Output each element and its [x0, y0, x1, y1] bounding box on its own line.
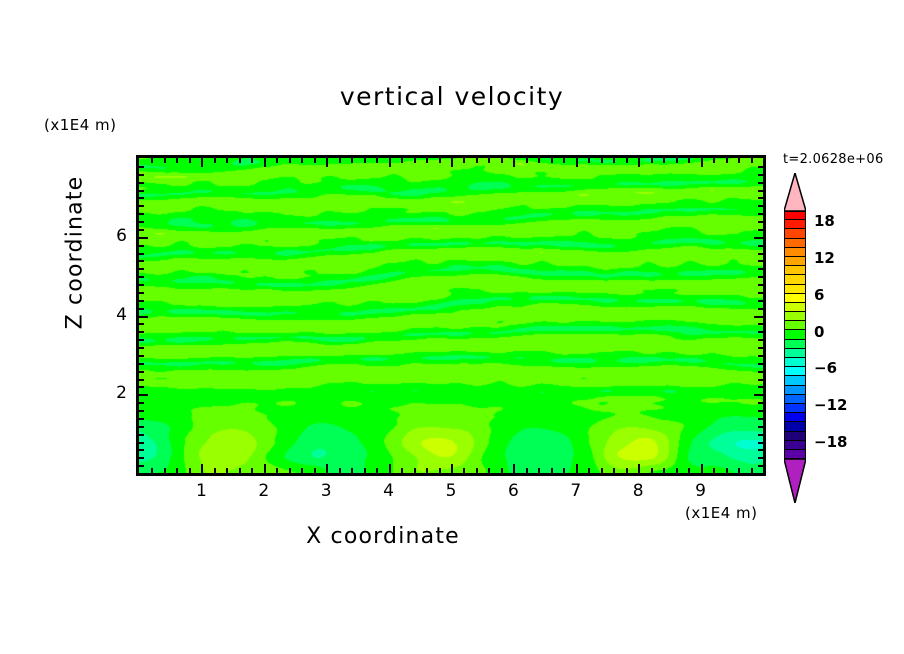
tick-mark	[151, 468, 153, 473]
tick-mark	[164, 468, 166, 473]
tick-mark	[758, 418, 763, 420]
tick-mark	[314, 158, 316, 163]
tick-mark	[401, 158, 403, 163]
tick-mark	[563, 468, 565, 473]
tick-mark	[713, 158, 715, 163]
tick-mark	[139, 323, 144, 325]
y-axis-title: Z coordinate	[63, 153, 88, 353]
colorbar-band[interactable]	[784, 321, 806, 330]
tick-mark	[139, 386, 144, 388]
tick-mark	[339, 468, 341, 473]
tick-mark	[758, 331, 763, 333]
tick-mark	[758, 442, 763, 444]
tick-mark	[758, 379, 763, 381]
tick-mark	[613, 468, 615, 473]
tick-mark	[626, 158, 628, 163]
tick-mark	[414, 468, 416, 473]
tick-mark	[139, 213, 144, 215]
colorbar-band[interactable]	[784, 340, 806, 349]
tick-mark	[758, 449, 763, 451]
tick-mark	[638, 464, 640, 473]
tick-mark	[538, 468, 540, 473]
colorbar-tick-label: −18	[814, 433, 847, 451]
tick-mark	[139, 402, 144, 404]
tick-mark	[758, 434, 763, 436]
colorbar-tick-label: 18	[814, 212, 835, 230]
tick-mark	[139, 253, 144, 255]
tick-mark	[351, 158, 353, 163]
colorbar-band[interactable]	[784, 211, 806, 220]
tick-mark	[139, 182, 144, 184]
tick-mark	[339, 158, 341, 163]
colorbar-tick-label: 12	[814, 249, 835, 267]
tick-mark	[139, 434, 144, 436]
tick-mark	[758, 386, 763, 388]
tick-mark	[239, 158, 241, 163]
tick-mark	[701, 464, 703, 473]
colorbar-band[interactable]	[784, 275, 806, 284]
y-tick-label: 6	[87, 226, 127, 246]
tick-mark	[758, 339, 763, 341]
tick-mark	[688, 468, 690, 473]
tick-mark	[758, 205, 763, 207]
tick-mark	[513, 464, 515, 473]
tick-mark	[389, 158, 391, 167]
tick-mark	[663, 468, 665, 473]
tick-mark	[326, 464, 328, 473]
tick-mark	[758, 300, 763, 302]
tick-mark	[214, 468, 216, 473]
tick-mark	[758, 355, 763, 357]
colorbar-band[interactable]	[784, 450, 806, 459]
tick-mark	[439, 468, 441, 473]
tick-mark	[139, 371, 144, 373]
tick-mark	[688, 158, 690, 163]
tick-mark	[613, 158, 615, 163]
tick-mark	[139, 449, 144, 451]
tick-mark	[139, 308, 144, 310]
colorbar-band[interactable]	[784, 395, 806, 404]
colorbar-band[interactable]	[784, 229, 806, 238]
x-tick-label: 3	[306, 481, 346, 501]
tick-mark	[139, 300, 144, 302]
y-tick-label: 2	[87, 383, 127, 403]
tick-mark	[251, 468, 253, 473]
colorbar-band[interactable]	[784, 367, 806, 376]
tick-mark	[754, 394, 763, 396]
tick-mark	[758, 229, 763, 231]
tick-mark	[526, 468, 528, 473]
tick-mark	[364, 468, 366, 473]
x-tick-label: 5	[431, 481, 471, 501]
colorbar-band[interactable]	[784, 266, 806, 275]
tick-mark	[758, 221, 763, 223]
tick-mark	[526, 158, 528, 163]
tick-mark	[588, 158, 590, 163]
tick-mark	[189, 468, 191, 473]
tick-mark	[364, 158, 366, 163]
colorbar-band[interactable]	[784, 358, 806, 367]
tick-mark	[758, 323, 763, 325]
tick-mark	[758, 426, 763, 428]
tick-mark	[301, 158, 303, 163]
colorbar-band[interactable]	[784, 413, 806, 422]
tick-mark	[289, 158, 291, 163]
colorbar-tick-label: −12	[814, 396, 847, 414]
tick-mark	[139, 394, 148, 396]
tick-mark	[376, 468, 378, 473]
colorbar-bottom-cap	[784, 459, 806, 503]
tick-mark	[488, 468, 490, 473]
tick-mark	[758, 253, 763, 255]
tick-mark	[713, 468, 715, 473]
tick-mark	[758, 260, 763, 262]
tick-mark	[758, 182, 763, 184]
tick-mark	[758, 363, 763, 365]
tick-mark	[501, 158, 503, 163]
tick-mark	[139, 205, 144, 207]
tick-mark	[214, 158, 216, 163]
tick-mark	[738, 158, 740, 163]
tick-mark	[139, 410, 144, 412]
tick-mark	[758, 245, 763, 247]
colorbar-tick-label: 0	[814, 323, 824, 341]
tick-mark	[726, 468, 728, 473]
x-tick-label: 7	[556, 481, 596, 501]
tick-mark	[189, 158, 191, 163]
tick-mark	[476, 468, 478, 473]
tick-mark	[139, 418, 144, 420]
tick-mark	[139, 245, 144, 247]
page-title: vertical velocity	[0, 82, 904, 111]
x-tick-label: 2	[244, 481, 284, 501]
y-axis-unit-label: (x1E4 m)	[44, 116, 117, 134]
tick-mark	[663, 158, 665, 163]
colorbar-band[interactable]	[784, 432, 806, 441]
tick-mark	[376, 158, 378, 163]
tick-mark	[139, 276, 144, 278]
tick-mark	[201, 464, 203, 473]
tick-mark	[414, 158, 416, 163]
x-tick-label: 9	[681, 481, 721, 501]
tick-mark	[139, 339, 144, 341]
colorbar-top-cap	[784, 173, 806, 211]
tick-mark	[139, 237, 148, 239]
tick-mark	[139, 166, 144, 168]
tick-mark	[758, 465, 763, 467]
tick-mark	[226, 158, 228, 163]
tick-mark	[139, 229, 144, 231]
velocity-field-canvas	[139, 158, 763, 473]
tick-mark	[676, 158, 678, 163]
tick-mark	[651, 158, 653, 163]
tick-mark	[139, 347, 144, 349]
tick-mark	[701, 158, 703, 167]
tick-mark	[588, 468, 590, 473]
tick-mark	[351, 468, 353, 473]
colorbar-band[interactable]	[784, 349, 806, 358]
tick-mark	[651, 468, 653, 473]
tick-mark	[551, 468, 553, 473]
tick-mark	[601, 468, 603, 473]
tick-mark	[758, 197, 763, 199]
colorbar-band[interactable]	[784, 257, 806, 266]
tick-mark	[451, 464, 453, 473]
colorbar-band[interactable]	[784, 330, 806, 339]
tick-mark	[139, 221, 144, 223]
tick-mark	[239, 468, 241, 473]
tick-mark	[264, 464, 266, 473]
tick-mark	[476, 158, 478, 163]
tick-mark	[758, 371, 763, 373]
tick-mark	[276, 158, 278, 163]
tick-mark	[758, 457, 763, 459]
figure-canvas: vertical velocity (x1E4 m) (x1E4 m) t=2.…	[0, 0, 904, 654]
colorbar-band[interactable]	[784, 294, 806, 303]
tick-mark	[139, 284, 144, 286]
tick-mark	[176, 468, 178, 473]
tick-mark	[326, 158, 328, 167]
tick-mark	[488, 158, 490, 163]
tick-mark	[139, 355, 144, 357]
tick-mark	[626, 468, 628, 473]
tick-mark	[139, 426, 144, 428]
tick-mark	[758, 166, 763, 168]
tick-mark	[226, 468, 228, 473]
tick-mark	[676, 468, 678, 473]
colorbar-tick-label: 6	[814, 286, 824, 304]
colorbar-band[interactable]	[784, 239, 806, 248]
tick-mark	[758, 308, 763, 310]
x-tick-label: 4	[369, 481, 409, 501]
tick-mark	[751, 158, 753, 163]
tick-mark	[751, 468, 753, 473]
tick-mark	[758, 268, 763, 270]
tick-mark	[139, 363, 144, 365]
tick-mark	[139, 292, 144, 294]
tick-mark	[758, 213, 763, 215]
tick-mark	[251, 158, 253, 163]
tick-mark	[551, 158, 553, 163]
tick-mark	[139, 260, 144, 262]
tick-mark	[314, 468, 316, 473]
colorbar-band[interactable]	[784, 386, 806, 395]
tick-mark	[139, 457, 144, 459]
tick-mark	[151, 158, 153, 163]
colorbar-band[interactable]	[784, 376, 806, 385]
tick-mark	[758, 174, 763, 176]
tick-mark	[758, 276, 763, 278]
tick-mark	[758, 402, 763, 404]
colorbar-band[interactable]	[784, 312, 806, 321]
tick-mark	[139, 442, 144, 444]
timestamp-annotation: t=2.0628e+06	[783, 152, 884, 167]
x-axis-title: X coordinate	[0, 524, 766, 549]
colorbar-band[interactable]	[784, 404, 806, 413]
x-tick-label: 6	[493, 481, 533, 501]
x-tick-label: 8	[618, 481, 658, 501]
tick-mark	[754, 316, 763, 318]
tick-mark	[389, 464, 391, 473]
tick-mark	[139, 316, 148, 318]
tick-mark	[264, 158, 266, 167]
tick-mark	[576, 158, 578, 167]
tick-mark	[463, 468, 465, 473]
tick-mark	[738, 468, 740, 473]
tick-mark	[139, 174, 144, 176]
tick-mark	[513, 158, 515, 167]
colorbar-band[interactable]	[784, 303, 806, 312]
tick-mark	[758, 410, 763, 412]
tick-mark	[439, 158, 441, 163]
colorbar-band[interactable]	[784, 441, 806, 450]
tick-mark	[289, 468, 291, 473]
tick-mark	[754, 237, 763, 239]
tick-mark	[139, 197, 144, 199]
tick-mark	[201, 158, 203, 167]
colorbar-band[interactable]	[784, 248, 806, 257]
tick-mark	[139, 465, 144, 467]
colorbar[interactable]	[784, 211, 806, 459]
tick-mark	[638, 158, 640, 167]
tick-mark	[139, 331, 144, 333]
x-axis-unit-label: (x1E4 m)	[685, 504, 758, 522]
tick-mark	[139, 268, 144, 270]
tick-mark	[538, 158, 540, 163]
tick-mark	[576, 464, 578, 473]
colorbar-tick-label: −6	[814, 359, 837, 377]
tick-mark	[758, 347, 763, 349]
tick-mark	[758, 190, 763, 192]
tick-mark	[463, 158, 465, 163]
colorbar-band[interactable]	[784, 422, 806, 431]
tick-mark	[758, 284, 763, 286]
tick-mark	[501, 468, 503, 473]
tick-mark	[563, 158, 565, 163]
tick-mark	[451, 158, 453, 167]
colorbar-band[interactable]	[784, 285, 806, 294]
x-tick-label: 1	[181, 481, 221, 501]
tick-mark	[426, 468, 428, 473]
contour-plot-area[interactable]	[136, 155, 766, 476]
tick-mark	[601, 158, 603, 163]
tick-mark	[758, 292, 763, 294]
tick-mark	[426, 158, 428, 163]
tick-mark	[726, 158, 728, 163]
tick-mark	[301, 468, 303, 473]
tick-mark	[139, 379, 144, 381]
colorbar-band[interactable]	[784, 220, 806, 229]
tick-mark	[176, 158, 178, 163]
tick-mark	[401, 468, 403, 473]
tick-mark	[139, 190, 144, 192]
tick-mark	[276, 468, 278, 473]
y-tick-label: 4	[87, 305, 127, 325]
tick-mark	[164, 158, 166, 163]
